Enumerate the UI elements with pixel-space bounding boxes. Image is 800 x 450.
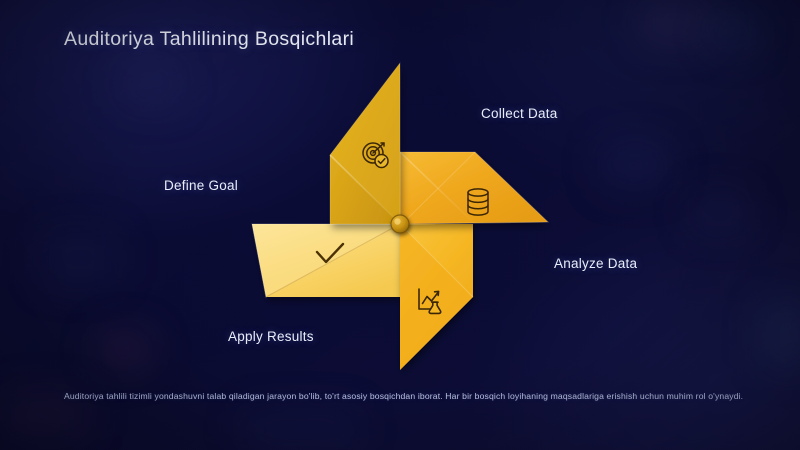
pinwheel-label-define-goal: Define Goal	[164, 178, 238, 193]
pinwheel-label-apply-results: Apply Results	[228, 329, 314, 344]
background-blotch	[600, 140, 670, 190]
slide-canvas: Auditoriya Tahlilining Bosqichlari	[0, 0, 800, 450]
pinwheel-label-analyze-data: Analyze Data	[554, 256, 637, 271]
background-blotch	[96, 330, 154, 370]
background-blotch	[40, 230, 120, 286]
pinwheel-blade-collect-data	[400, 152, 548, 224]
target-icon	[363, 143, 388, 168]
pinwheel-blade-apply-results	[252, 224, 400, 297]
pinwheel-label-collect-data: Collect Data	[481, 106, 558, 121]
background-blotch	[640, 0, 710, 46]
background-blotch	[120, 60, 180, 108]
checkmark-icon	[317, 244, 343, 262]
page-title: Auditoriya Tahlilining Bosqichlari	[64, 28, 354, 51]
pinwheel-diagram	[0, 0, 800, 450]
database-icon	[468, 189, 488, 215]
pinwheel-blade-define-goal	[330, 63, 400, 224]
chart-flask-icon	[419, 289, 441, 313]
background-blotch	[690, 190, 750, 234]
vignette-overlay	[0, 0, 800, 450]
background-blotch	[240, 410, 360, 450]
background-blotch	[760, 300, 800, 370]
pinwheel-blade-analyze-data	[400, 224, 473, 370]
pinwheel-hub	[391, 215, 409, 233]
slide-caption: Auditoriya tahlili tizimli yondashuvni t…	[64, 390, 744, 403]
background-blotch	[710, 12, 756, 52]
